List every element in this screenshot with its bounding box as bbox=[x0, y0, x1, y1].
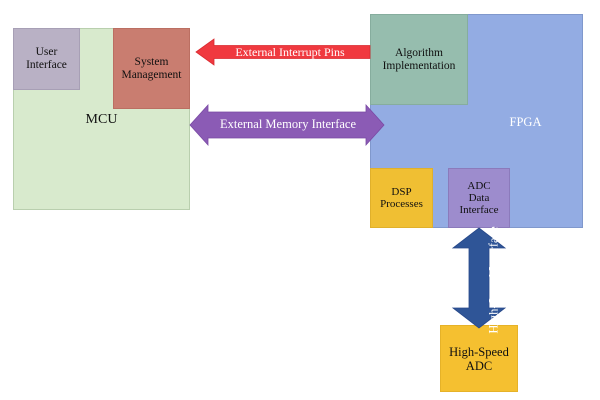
block-adc-data-interface-label: ADC Data Interface bbox=[457, 180, 500, 217]
dsp-processes-line-2: Processes bbox=[380, 198, 423, 210]
adc-data-interface-line-1: ADC bbox=[467, 180, 490, 192]
block-dsp-processes[interactable]: DSP Processes bbox=[370, 168, 433, 228]
block-mcu-label: MCU bbox=[13, 110, 190, 130]
high-speed-adc-line-2: ADC bbox=[466, 359, 492, 373]
block-high-speed-adc[interactable]: High-Speed ADC bbox=[440, 325, 518, 392]
system-management-line-1: System bbox=[135, 56, 169, 68]
dsp-processes-line-1: DSP bbox=[391, 186, 411, 198]
block-system-management[interactable]: System Management bbox=[113, 28, 190, 109]
arrow-external-memory-interface[interactable] bbox=[190, 104, 384, 146]
block-user-interface[interactable]: User Interface bbox=[13, 28, 80, 90]
block-system-management-label: System Management bbox=[119, 56, 183, 82]
block-dsp-processes-label: DSP Processes bbox=[378, 186, 425, 211]
block-algorithm-implementation[interactable]: Algorithm Implementation bbox=[370, 14, 468, 105]
block-algorithm-implementation-label: Algorithm Implementation bbox=[381, 47, 458, 73]
user-interface-line-2: Interface bbox=[26, 59, 67, 71]
block-fpga-label: FPGA bbox=[468, 112, 583, 132]
diagram-canvas: MCU User Interface System Management FPG… bbox=[0, 0, 600, 400]
block-high-speed-adc-label: High-Speed ADC bbox=[447, 345, 511, 373]
adc-data-interface-line-2: Data bbox=[469, 192, 490, 204]
adc-data-interface-line-3: Interface bbox=[459, 204, 498, 216]
block-adc-data-interface[interactable]: ADC Data Interface bbox=[448, 168, 510, 228]
arrow-high-speed-interface[interactable] bbox=[452, 228, 506, 328]
high-speed-adc-line-1: High-Speed bbox=[449, 345, 509, 359]
algorithm-implementation-line-1: Algorithm bbox=[395, 47, 443, 59]
user-interface-line-1: User bbox=[36, 46, 58, 58]
arrow-external-interrupt-pins[interactable] bbox=[196, 38, 370, 66]
block-user-interface-label: User Interface bbox=[24, 46, 69, 72]
algorithm-implementation-line-2: Implementation bbox=[383, 60, 456, 72]
system-management-line-2: Management bbox=[121, 69, 181, 81]
